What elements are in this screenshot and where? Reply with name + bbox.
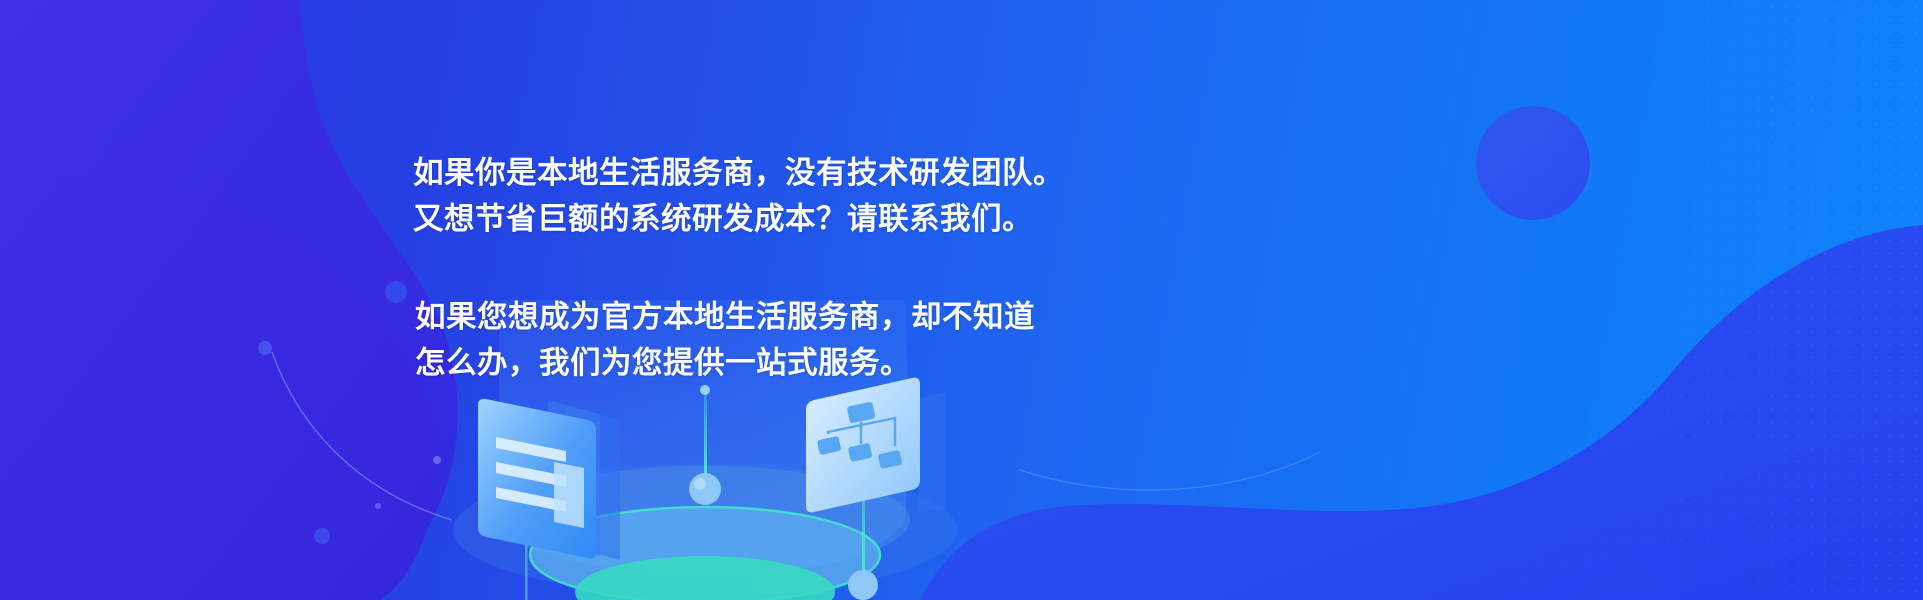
- hierarchy-links: [828, 418, 895, 446]
- wave-left-upper: [0, 0, 458, 600]
- card-list-rows: [496, 437, 566, 512]
- connector-node-right: [848, 570, 878, 600]
- paragraph-2-line-1: 如果您想成为官方本地生活服务商，却不知道: [413, 300, 1035, 334]
- platform-disc: [530, 507, 880, 600]
- wave-left: [0, 174, 438, 600]
- decor-dot-1: [385, 281, 407, 303]
- connector-line-left: [525, 520, 528, 600]
- connector-line-right: [848, 470, 878, 600]
- connector-node-center: [689, 473, 721, 505]
- card-side-block: [554, 462, 584, 528]
- paragraph-2: 如果您想成为官方本地生活服务商，却不知道 怎么办，我们为您提供一站式服务。: [413, 294, 1064, 386]
- dot-pattern-overlay: [1038, 0, 1923, 600]
- paragraph-1-line-1: 如果你是本地生活服务商，没有技术研发团队。: [413, 156, 1064, 190]
- connector-line-center: [689, 385, 721, 505]
- paragraph-2-line-2: 怎么办，我们为您提供一站式服务。: [413, 346, 911, 380]
- banner-copy: 如果你是本地生活服务商，没有技术研发团队。 又想节省巨额的系统研发成本？请联系我…: [413, 150, 1064, 386]
- promo-banner: 如果你是本地生活服务商，没有技术研发团队。 又想节省巨额的系统研发成本？请联系我…: [0, 0, 1923, 600]
- decor-dot-5: [375, 503, 381, 509]
- floating-dot-top: [700, 385, 710, 395]
- decor-dot-4: [433, 456, 441, 464]
- paragraph-1-line-2: 又想节省巨额的系统研发成本？请联系我们。: [413, 202, 1033, 236]
- document-list-card: [478, 399, 620, 560]
- hierarchy-nodes: [817, 401, 903, 469]
- sitemap-hierarchy-card: [806, 378, 945, 514]
- paragraph-1: 如果你是本地生活服务商，没有技术研发团队。 又想节省巨额的系统研发成本？请联系我…: [413, 150, 1064, 242]
- decor-dot-2: [258, 341, 272, 355]
- decor-dot-3: [314, 528, 330, 544]
